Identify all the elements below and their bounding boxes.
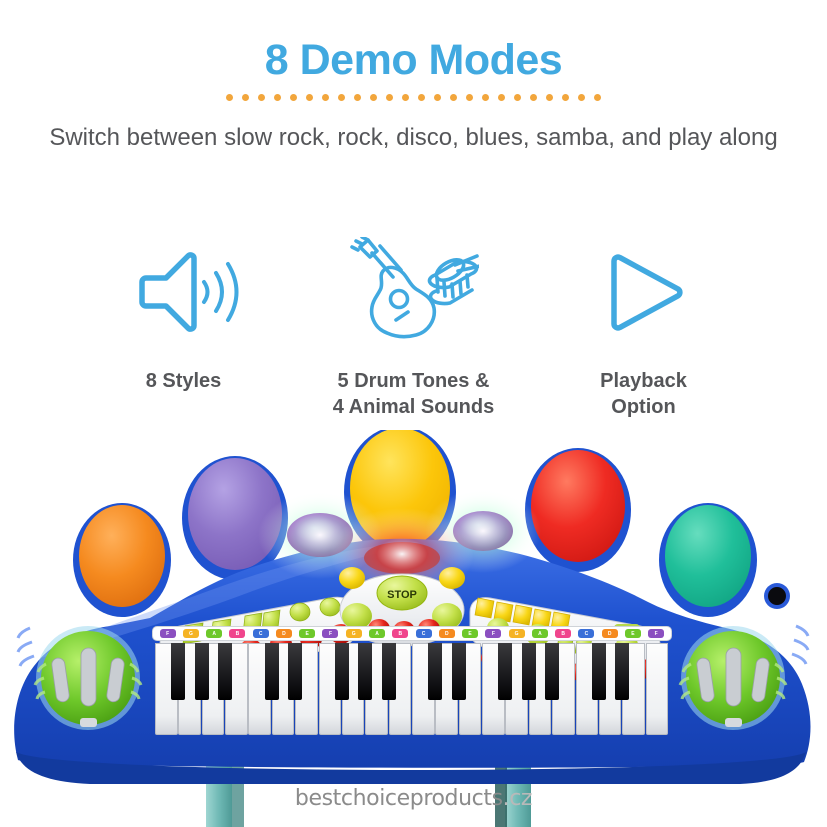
divider-dot xyxy=(402,94,409,101)
divider-dot xyxy=(450,94,457,101)
keyboard-assembly[interactable]: FGABCDEFGABCDEFGABCDEF xyxy=(152,626,672,738)
black-key[interactable] xyxy=(288,643,302,700)
note-label-chip: F xyxy=(160,629,176,638)
black-key[interactable] xyxy=(335,643,349,700)
divider-dot xyxy=(338,94,345,101)
note-label-chip: E xyxy=(462,629,478,638)
convert-button-2 xyxy=(439,567,465,589)
black-key[interactable] xyxy=(218,643,232,700)
note-label-chip: B xyxy=(392,629,408,638)
note-label-chip: B xyxy=(555,629,571,638)
black-key[interactable] xyxy=(195,643,209,700)
black-key[interactable] xyxy=(615,643,629,700)
divider-dot xyxy=(466,94,473,101)
convert-button-1 xyxy=(339,567,365,589)
divider-dot xyxy=(434,94,441,101)
feature-label-playback-line1: Playback xyxy=(600,370,687,392)
note-label-chip: D xyxy=(602,629,618,638)
feature-label-playback-line2: Option xyxy=(611,396,675,418)
feature-item-styles: 8 Styles xyxy=(69,232,299,394)
divider-dot xyxy=(274,94,281,101)
divider-dot xyxy=(578,94,585,101)
speaker-sound-icon xyxy=(128,232,240,352)
body-ridges-right xyxy=(792,626,808,664)
divider-dot xyxy=(258,94,265,101)
note-label-chip: A xyxy=(369,629,385,638)
black-key[interactable] xyxy=(358,643,372,700)
feature-label-styles: 8 Styles xyxy=(146,368,222,394)
divider-dot xyxy=(418,94,425,101)
note-label-chip: C xyxy=(578,629,594,638)
white-key[interactable] xyxy=(646,643,669,735)
note-label-chip: B xyxy=(229,629,245,638)
watermark-main: bestchoiceproducts xyxy=(295,786,503,811)
body-ridges-left xyxy=(18,628,34,666)
black-key[interactable] xyxy=(498,643,512,700)
play-triangle-icon xyxy=(594,232,694,352)
divider-dot xyxy=(562,94,569,101)
feature-label-drum-line1: 5 Drum Tones & xyxy=(338,370,490,392)
black-key[interactable] xyxy=(265,643,279,700)
feature-label-drum-tones: 5 Drum Tones & 4 Animal Sounds xyxy=(333,368,495,420)
guitar-drum-icon xyxy=(349,232,479,352)
divider-dot xyxy=(482,94,489,101)
divider-dot xyxy=(226,94,233,101)
speaker-right xyxy=(680,626,786,730)
page-title: 8 Demo Modes xyxy=(0,36,827,85)
feature-item-playback: Playback Option xyxy=(529,232,759,420)
page-subtitle: Switch between slow rock, rock, disco, b… xyxy=(0,122,827,153)
black-key[interactable] xyxy=(171,643,185,700)
divider-dot xyxy=(242,94,249,101)
note-label-chip: G xyxy=(509,629,525,638)
divider-dot xyxy=(370,94,377,101)
site-watermark: bestchoiceproducts.cz xyxy=(0,786,827,811)
piano-keys[interactable] xyxy=(155,643,669,735)
promo-page: 8 Demo Modes Switch between slow rock, r… xyxy=(0,0,827,827)
dot-divider xyxy=(0,94,827,101)
divider-dot xyxy=(594,94,601,101)
divider-dot xyxy=(322,94,329,101)
note-label-chip: A xyxy=(532,629,548,638)
divider-dot xyxy=(354,94,361,101)
divider-dot xyxy=(530,94,537,101)
note-label-chip: F xyxy=(485,629,501,638)
divider-dot xyxy=(306,94,313,101)
feature-item-drum-tones: 5 Drum Tones & 4 Animal Sounds xyxy=(299,232,529,420)
note-label-chip: E xyxy=(625,629,641,638)
note-label-chip: G xyxy=(183,629,199,638)
product-image-keyboard: STOP xyxy=(0,430,827,827)
divider-dot xyxy=(514,94,521,101)
feature-label-playback: Playback Option xyxy=(600,368,687,420)
black-key[interactable] xyxy=(522,643,536,700)
black-key[interactable] xyxy=(592,643,606,700)
note-label-chip: D xyxy=(439,629,455,638)
feature-label-drum-line2: 4 Animal Sounds xyxy=(333,396,495,418)
note-label-chip: E xyxy=(299,629,315,638)
divider-dot xyxy=(386,94,393,101)
speaker-left xyxy=(35,626,141,730)
watermark-tld: .cz xyxy=(503,786,532,811)
note-label-chip: C xyxy=(416,629,432,638)
divider-dot xyxy=(498,94,505,101)
note-label-chip: D xyxy=(276,629,292,638)
jack-port[interactable] xyxy=(764,583,790,609)
black-key[interactable] xyxy=(382,643,396,700)
feature-row: 8 Styles xyxy=(0,232,827,420)
note-label-chip: A xyxy=(206,629,222,638)
divider-dot xyxy=(546,94,553,101)
black-key[interactable] xyxy=(545,643,559,700)
note-label-chip: F xyxy=(648,629,664,638)
note-label-row: FGABCDEFGABCDEFGABCDEF xyxy=(152,626,672,641)
stop-button-label: STOP xyxy=(387,589,417,601)
black-key[interactable] xyxy=(452,643,466,700)
black-key[interactable] xyxy=(428,643,442,700)
note-label-chip: G xyxy=(346,629,362,638)
note-label-chip: F xyxy=(322,629,338,638)
note-label-chip: C xyxy=(253,629,269,638)
divider-dot xyxy=(290,94,297,101)
